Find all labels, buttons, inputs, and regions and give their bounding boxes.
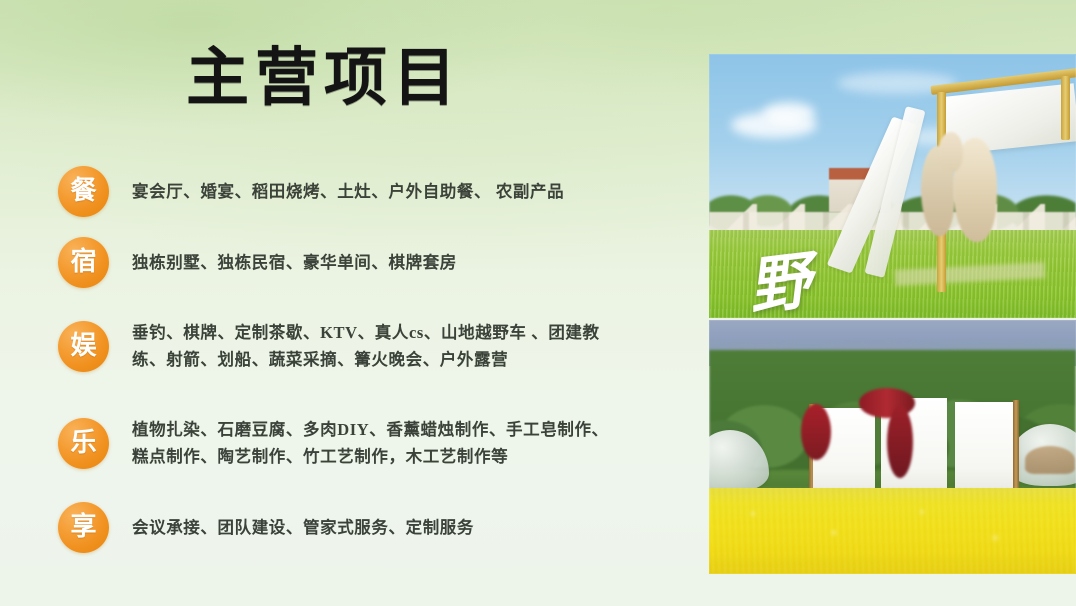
service-text-services: 会议承接、团队建设、管家式服务、定制服务	[132, 513, 688, 542]
service-line: 独栋别墅、独栋民宿、豪华单间、棋牌套房	[132, 250, 688, 277]
photo-column: 野 奢	[709, 54, 1076, 574]
white-fabric-panel	[955, 402, 1017, 496]
service-list: 餐 宴会厅、婚宴、稻田烧烤、土灶、户外自助餐、 农副产品 宿 独栋别墅、独栋民宿…	[58, 160, 688, 567]
page-title: 主营项目	[186, 47, 462, 110]
service-row-dining: 餐 宴会厅、婚宴、稻田烧烤、土灶、户外自助餐、 农副产品	[58, 160, 688, 222]
cloud	[763, 102, 815, 124]
service-text-entertainment: 垂钓、棋牌、定制茶歇、KTV、真人cs、山地越野车 、团建教 练、射箭、划船、蔬…	[132, 318, 688, 373]
service-line: 垂钓、棋牌、定制茶歇、KTV、真人cs、山地越野车 、团建教	[132, 320, 688, 347]
badge-dining: 餐	[58, 166, 109, 217]
service-line: 练、射箭、划船、蔬菜采摘、篝火晚会、户外露营	[132, 347, 688, 374]
arch-post	[1061, 76, 1070, 140]
badge-lodging: 宿	[58, 237, 109, 288]
service-row-entertainment: 娱 垂钓、棋牌、定制茶歇、KTV、真人cs、山地越野车 、团建教 练、射箭、划船…	[58, 302, 688, 390]
service-text-dining: 宴会厅、婚宴、稻田烧烤、土灶、户外自助餐、 农副产品	[132, 177, 688, 206]
dome-tent-interior	[1025, 446, 1075, 474]
rapeseed-field-texture	[709, 488, 1076, 574]
service-text-lodging: 独栋别墅、独栋民宿、豪华单间、棋牌套房	[132, 248, 688, 277]
service-row-lodging: 宿 独栋别墅、独栋民宿、豪华单间、棋牌套房	[58, 231, 688, 293]
red-flower-garland	[887, 406, 913, 478]
badge-activities: 乐	[58, 418, 109, 469]
photo-rice-field-camp: 野	[709, 54, 1076, 318]
service-line: 宴会厅、婚宴、稻田烧烤、土灶、户外自助餐、 农副产品	[132, 179, 688, 206]
badge-services: 享	[58, 502, 109, 553]
service-line: 会议承接、团队建设、管家式服务、定制服务	[132, 515, 688, 542]
service-text-activities: 植物扎染、石磨豆腐、多肉DIY、香薰蜡烛制作、手工皂制作、 糕点制作、陶艺制作、…	[132, 415, 688, 470]
service-row-services: 享 会议承接、团队建设、管家式服务、定制服务	[58, 496, 688, 558]
service-line: 糕点制作、陶艺制作、竹工艺制作，木工艺制作等	[132, 444, 688, 471]
service-line: 植物扎染、石磨豆腐、多肉DIY、香薰蜡烛制作、手工皂制作、	[132, 417, 688, 444]
badge-entertainment: 娱	[58, 321, 109, 372]
red-flower-garland	[801, 404, 831, 460]
photo-rapeseed-field-installation: 奢	[709, 320, 1076, 574]
service-row-activities: 乐 植物扎染、石磨豆腐、多肉DIY、香薰蜡烛制作、手工皂制作、 糕点制作、陶艺制…	[58, 399, 688, 487]
dried-flower-cluster	[939, 132, 963, 172]
